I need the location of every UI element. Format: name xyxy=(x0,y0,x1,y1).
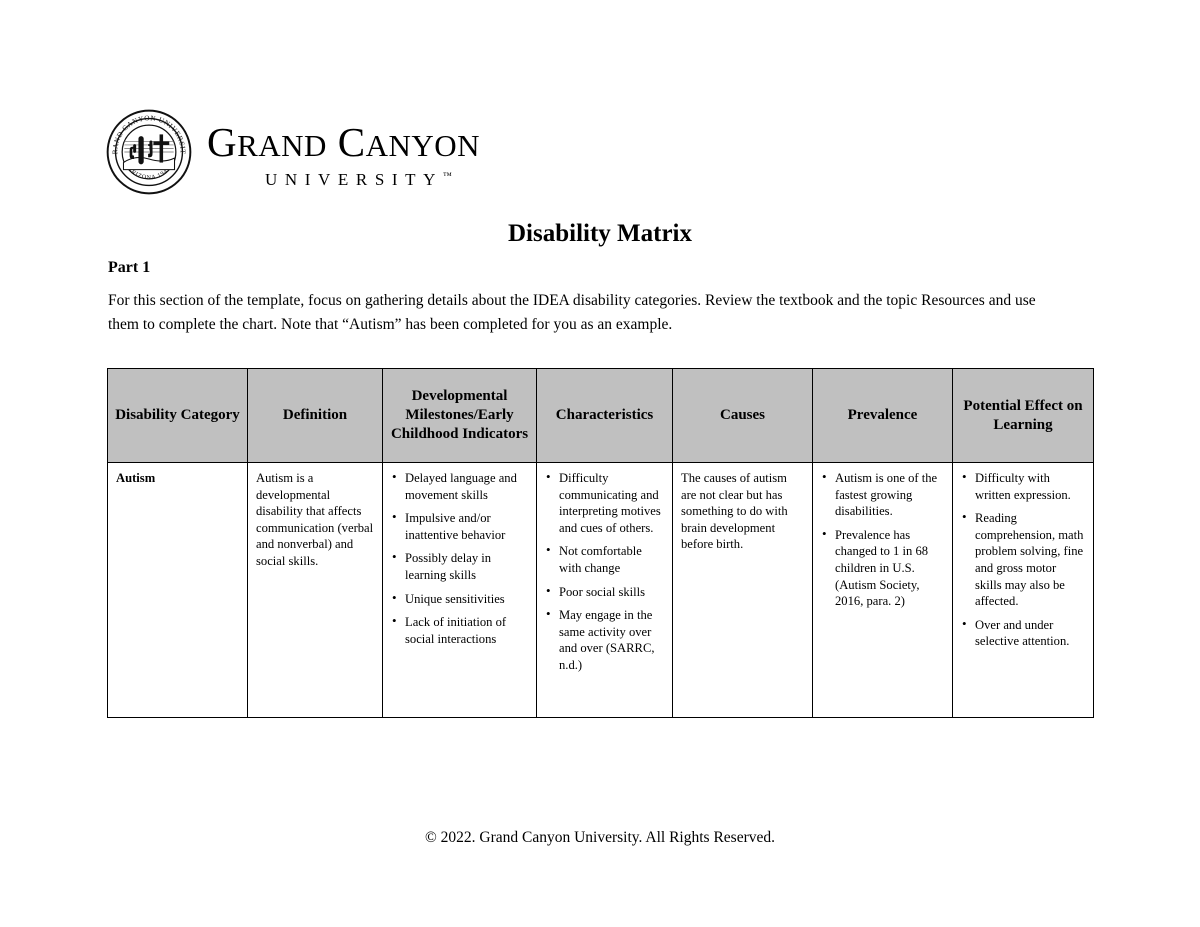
gcu-logo: GRAND CANYON UNIVERSITY ARIZONA 1949 xyxy=(105,108,480,196)
list-item: May engage in the same activity over and… xyxy=(559,607,664,673)
cell-definition[interactable]: Autism is a developmental disability tha… xyxy=(248,463,383,718)
cell-causes[interactable]: The causes of autism are not clear but h… xyxy=(673,463,813,718)
wordmark-university: UNIVERSITY xyxy=(265,170,443,189)
cell-disability-category[interactable]: Autism xyxy=(108,463,248,718)
disability-matrix-table-wrapper: Disability Category Definition Developme… xyxy=(107,368,1093,718)
wordmark-line-1: GRAND CANYON xyxy=(207,120,480,168)
milestones-list: Delayed language and movement skillsImpu… xyxy=(391,470,528,647)
column-header-definition: Definition xyxy=(248,369,383,463)
characteristics-list: Difficulty communicating and interpretin… xyxy=(545,470,664,674)
definition-text: Autism is a developmental disability tha… xyxy=(256,470,374,570)
list-item: Delayed language and movement skills xyxy=(405,470,528,503)
list-item: Unique sensitivities xyxy=(405,591,528,608)
column-header-disability-category: Disability Category xyxy=(108,369,248,463)
wordmark-line-2: UNIVERSITY™ xyxy=(265,170,452,190)
category-label: Autism xyxy=(116,471,155,485)
list-item: Autism is one of the fastest growing dis… xyxy=(835,470,944,520)
list-item: Not comfortable with change xyxy=(559,543,664,576)
list-item: Poor social skills xyxy=(559,584,664,601)
list-item: Reading comprehension, math problem solv… xyxy=(975,510,1085,610)
wordmark-anyon: ANYON xyxy=(366,128,480,163)
wordmark-c: C xyxy=(338,119,366,165)
gcu-seal-icon: GRAND CANYON UNIVERSITY ARIZONA 1949 xyxy=(105,108,193,196)
cell-potential-effect-on-learning[interactable]: Difficulty with written expression.Readi… xyxy=(953,463,1094,718)
column-header-potential-effect-on-learning: Potential Effect on Learning xyxy=(953,369,1094,463)
copyright-footer: © 2022. Grand Canyon University. All Rig… xyxy=(0,829,1200,847)
list-item: Difficulty communicating and interpretin… xyxy=(559,470,664,536)
wordmark-g: G xyxy=(207,119,237,165)
cell-characteristics[interactable]: Difficulty communicating and interpretin… xyxy=(537,463,673,718)
list-item: Impulsive and/or inattentive behavior xyxy=(405,510,528,543)
table-header-row: Disability Category Definition Developme… xyxy=(108,369,1094,463)
list-item: Over and under selective attention. xyxy=(975,617,1085,650)
column-header-prevalence: Prevalence xyxy=(813,369,953,463)
gcu-wordmark: GRAND CANYON UNIVERSITY™ xyxy=(207,114,480,190)
prevalence-list: Autism is one of the fastest growing dis… xyxy=(821,470,944,610)
disability-matrix-table: Disability Category Definition Developme… xyxy=(107,368,1094,718)
list-item: Possibly delay in learning skills xyxy=(405,550,528,583)
column-header-characteristics: Characteristics xyxy=(537,369,673,463)
list-item: Difficulty with written expression. xyxy=(975,470,1085,503)
list-item: Lack of initiation of social interaction… xyxy=(405,614,528,647)
table-row: Autism Autism is a developmental disabil… xyxy=(108,463,1094,718)
part-heading: Part 1 xyxy=(108,259,150,277)
document-page: GRAND CANYON UNIVERSITY ARIZONA 1949 xyxy=(0,0,1200,927)
cell-prevalence[interactable]: Autism is one of the fastest growing dis… xyxy=(813,463,953,718)
effect-on-learning-list: Difficulty with written expression.Readi… xyxy=(961,470,1085,650)
wordmark-rand: RAND xyxy=(237,128,327,163)
page-title: Disability Matrix xyxy=(0,220,1200,248)
column-header-causes: Causes xyxy=(673,369,813,463)
causes-text: The causes of autism are not clear but h… xyxy=(681,470,804,553)
intro-paragraph: For this section of the template, focus … xyxy=(108,289,1068,337)
cell-developmental-milestones[interactable]: Delayed language and movement skillsImpu… xyxy=(383,463,537,718)
column-header-developmental-milestones: Developmental Milestones/Early Childhood… xyxy=(383,369,537,463)
list-item: Prevalence has changed to 1 in 68 childr… xyxy=(835,527,944,610)
trademark-symbol: ™ xyxy=(443,170,452,180)
